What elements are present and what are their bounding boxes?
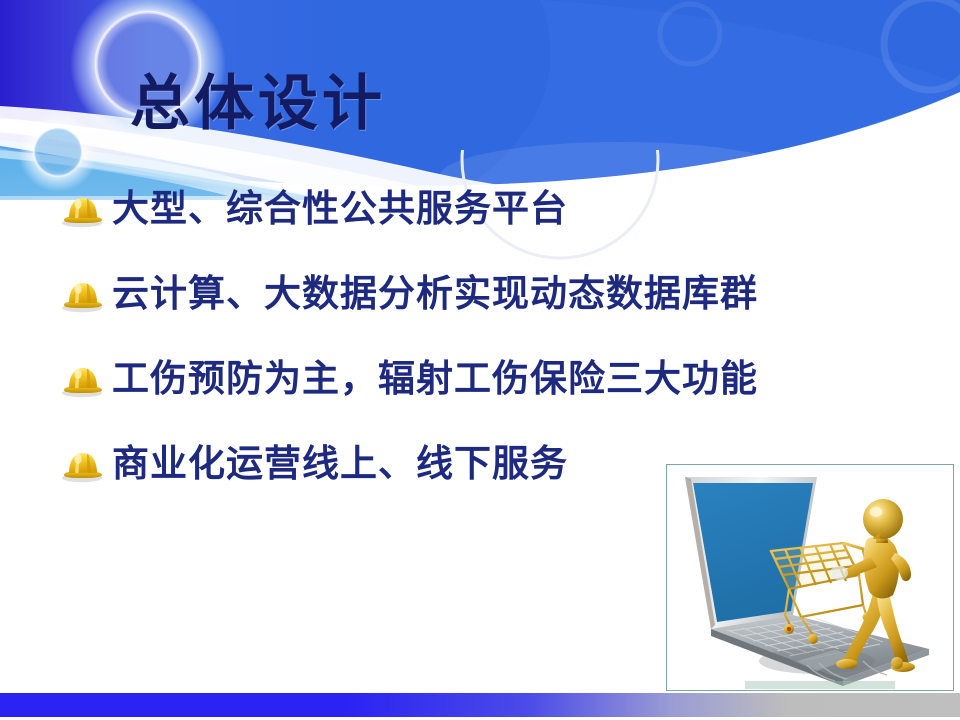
list-item-label: 大型、综合性公共服务平台 [112, 190, 568, 231]
hard-hat-icon [60, 445, 106, 485]
list-item: 工伤预防为主，辐射工伤保险三大功能 [60, 352, 910, 408]
hard-hat-icon [60, 275, 106, 315]
hard-hat-icon [60, 360, 106, 400]
list-item: 大型、综合性公共服务平台 [60, 182, 910, 238]
footer-accent-bar [0, 693, 960, 717]
slide-canvas: 总体设计 [0, 0, 960, 720]
list-item: 云计算、大数据分析实现动态数据库群 [60, 267, 910, 323]
page-title: 总体设计 [130, 74, 386, 134]
list-item-label: 工伤预防为主，辐射工伤保险三大功能 [112, 360, 758, 401]
list-item-label: 商业化运营线上、线下服务 [112, 445, 568, 486]
list-item-label: 云计算、大数据分析实现动态数据库群 [112, 275, 758, 316]
ecommerce-laptop-shopping-cart-image [666, 464, 954, 691]
hard-hat-icon [60, 190, 106, 230]
